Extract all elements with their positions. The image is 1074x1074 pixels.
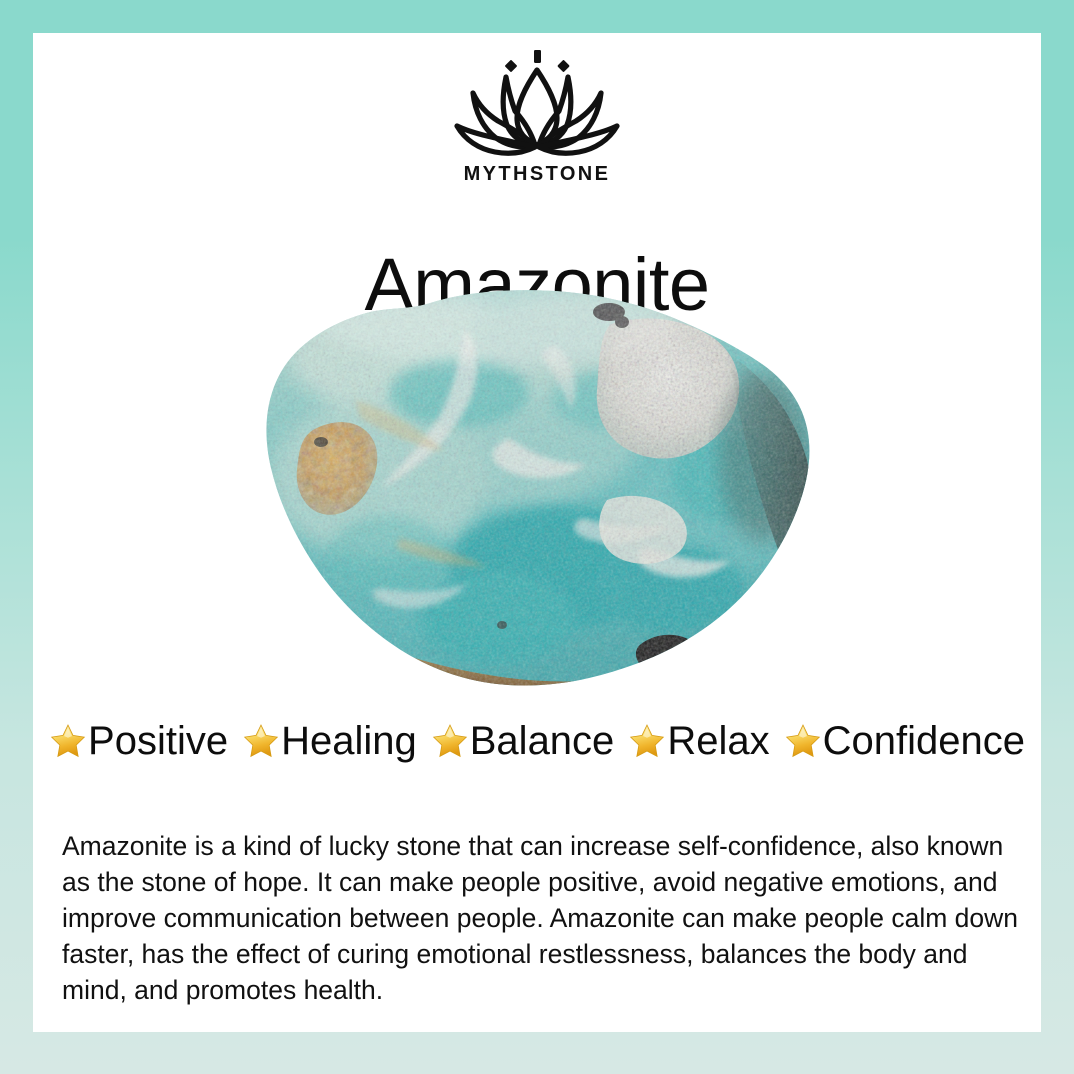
- poster-frame: MYTHSTONE Amazonite: [0, 0, 1074, 1074]
- keyword-label: Balance: [470, 721, 615, 761]
- keyword-label: Confidence: [823, 721, 1025, 761]
- star-icon: [49, 722, 87, 760]
- keyword-label: Positive: [88, 721, 228, 761]
- keyword-label: Healing: [281, 721, 417, 761]
- lotus-flower-icon: [449, 48, 625, 166]
- keyword-list: Positive Healing Balance: [33, 721, 1041, 761]
- star-icon: [431, 722, 469, 760]
- keyword-item: Relax: [628, 721, 769, 761]
- keyword-item: Positive: [49, 721, 228, 761]
- brand-wordmark: MYTHSTONE: [464, 163, 611, 186]
- brand-logo: MYTHSTONE: [33, 48, 1041, 186]
- star-icon: [242, 722, 280, 760]
- keyword-item: Healing: [242, 721, 417, 761]
- description-paragraph: Amazonite is a kind of lucky stone that …: [62, 828, 1019, 1008]
- keyword-item: Confidence: [784, 721, 1025, 761]
- keyword-item: Balance: [431, 721, 615, 761]
- star-icon: [784, 722, 822, 760]
- keyword-label: Relax: [667, 721, 769, 761]
- content-card: MYTHSTONE Amazonite: [33, 33, 1041, 1032]
- amazonite-stone-image: [259, 288, 815, 698]
- hero-image-container: [33, 283, 1041, 703]
- star-icon: [628, 722, 666, 760]
